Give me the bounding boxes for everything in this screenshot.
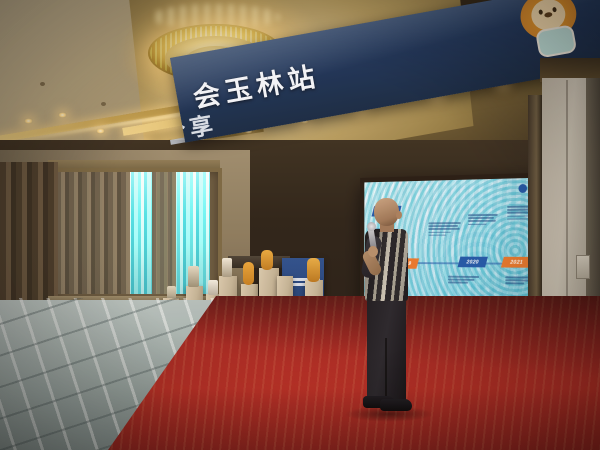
presenter-ear [396, 211, 402, 219]
conference-hall-photo: 升级模式分享 会玉林站 LOGO 2023 2018 2019 2020 202… [0, 0, 600, 450]
slide-text-block [428, 222, 460, 236]
presenter-head [374, 198, 399, 226]
display-table [228, 256, 290, 268]
ceiling-downlight [24, 118, 33, 124]
trouser-seam [385, 338, 387, 401]
slide-text-block [448, 276, 479, 284]
ceiling-downlight [58, 112, 67, 118]
slide-logo-mark [519, 184, 528, 193]
presenter-hand [368, 246, 378, 257]
ceiling-downlight [96, 128, 105, 134]
timeline-year-chip: 2020 [457, 257, 487, 268]
left-drape-panel [56, 172, 130, 294]
display-product [261, 250, 273, 270]
display-product [243, 262, 254, 285]
ceiling-sprinkler [101, 102, 106, 106]
wall-switch-plate[interactable] [576, 255, 590, 279]
display-product [222, 258, 232, 277]
presenter-shoe [380, 399, 412, 411]
slide-text-block [468, 214, 498, 225]
display-product [208, 280, 218, 295]
dark-drape-far-left [0, 162, 58, 308]
presenter [360, 198, 412, 420]
ceiling-sprinkler [40, 82, 45, 86]
center-drape-panel [152, 172, 176, 294]
display-product [188, 266, 199, 287]
microphone-head-icon [367, 222, 376, 231]
display-product [307, 258, 320, 282]
lion-mascot-icon [517, 0, 583, 59]
